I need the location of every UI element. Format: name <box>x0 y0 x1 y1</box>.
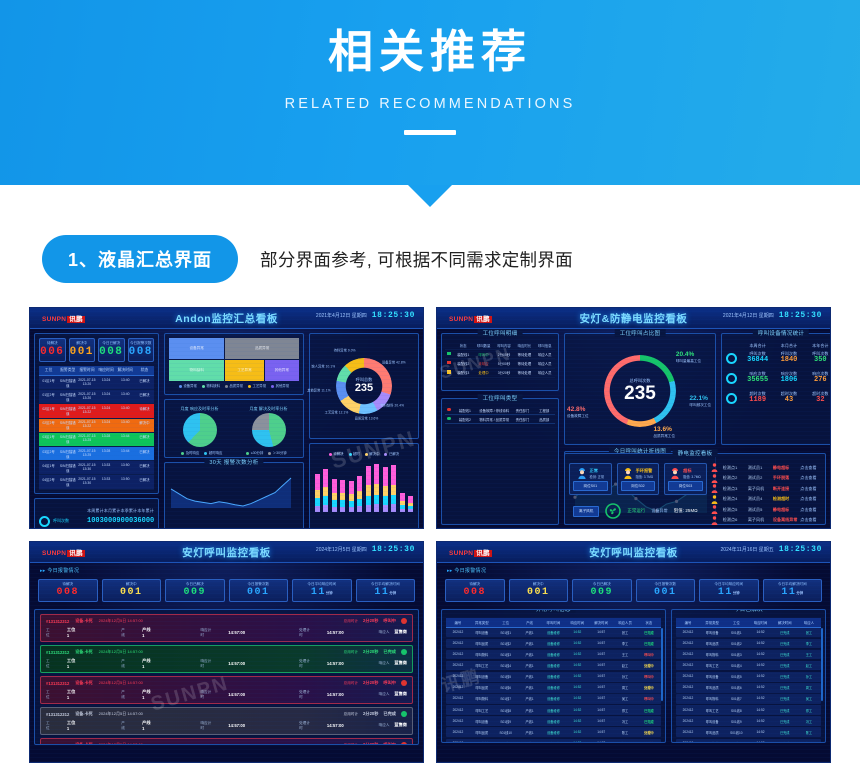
table-cell: 202412 <box>446 683 470 693</box>
alarm-line-value: 产线1 <box>142 627 152 638</box>
table-row[interactable]: 202412呼叫物料S01线3产线1设备维修14:5214:57王工呼叫中 <box>446 650 661 660</box>
table-cell: 设备维修 <box>542 661 566 671</box>
table-cell: 202412 <box>676 739 700 743</box>
table-row[interactable]: 202412呼叫物料S01线714:52已完成吴工 <box>676 694 821 704</box>
table-row[interactable]: 装配线3处理中3分20秒等待处理响应人员 <box>445 369 555 378</box>
hero-banner: 相关推荐 RELATED RECOMMENDATIONS <box>0 0 860 185</box>
table-cell: 01区1号 <box>39 376 58 389</box>
table-cell: 已完成 <box>773 650 797 660</box>
table-row[interactable]: 02区2号S/N扫描错误2021-07-15 13:2213:2413:40解决… <box>39 419 154 433</box>
panel-resolved-today: 今日已解决 编号异常类型工位响应时间解决时间响应人 202412呼叫设备S01线… <box>671 609 826 743</box>
treemap-block[interactable]: 品质异常 <box>225 338 299 359</box>
bar[interactable] <box>332 479 337 512</box>
alarm-line-label: 产线 <box>121 690 128 700</box>
kpi-card[interactable]: 解决中001 <box>509 579 569 602</box>
table-row[interactable]: 202412呼叫设备S01线5产线1设备维修14:5214:57孙工呼叫中 <box>446 672 661 682</box>
page-title: 相关推荐 <box>328 27 532 77</box>
alarm-line-label: 产线 <box>121 628 128 638</box>
esd-alert-row[interactable]: 检测点6离子风机设备离线异常点击查看 <box>711 516 821 525</box>
stats-value: 1806 <box>773 376 804 384</box>
title-divider <box>404 130 456 135</box>
table-cell: 产线1 <box>518 716 542 726</box>
alarm-id: #131312312 <box>46 743 69 746</box>
table-cell: 02区1号 <box>39 404 58 417</box>
alarm-person-label: 响应人 <box>379 692 390 697</box>
table-cell: 14:52 <box>748 716 772 726</box>
table-cell: 14:52 <box>565 639 589 649</box>
table-row[interactable]: 202412呼叫工艺S01线414:52已完成赵工 <box>676 661 821 671</box>
table-cell: 03区1号 <box>39 433 58 446</box>
table-header-cell: 编号 <box>446 618 470 627</box>
panel-title: 今日已解决 <box>729 609 768 613</box>
table-cell: 202412 <box>446 727 470 737</box>
alarm-total-value: 2分20秒 <box>363 649 378 655</box>
kpi-card[interactable]: 今日已解决009 <box>165 579 225 602</box>
esd-action-link[interactable]: 点击查看 <box>800 476 821 480</box>
kpi-card[interactable]: 今日平均解决时间11分钟 <box>763 579 823 602</box>
table-cell: S01线7 <box>724 694 748 704</box>
alarm-total-label: 总用时计 <box>344 743 358 746</box>
table-row[interactable]: 04区1号S/N扫描错误2021-07-15 13:3013:3313:50已解… <box>39 461 154 475</box>
kpi-card[interactable]: 解决中001 <box>102 579 162 602</box>
dashboard-andon-summary[interactable]: SUNPN讯鹏 Andon监控汇总看板 2021年4月12日 星期四 18:25… <box>29 307 424 529</box>
table-row[interactable]: 202412呼叫设备S01线114:52已完成张工 <box>676 628 821 638</box>
table-cell: 202412 <box>446 739 470 743</box>
donut-chart[interactable]: 总呼叫次数 235 20.4% 呼叫量最高工位 22.1% 呼叫频次工位 <box>565 341 715 441</box>
kpi-value: 001 <box>230 588 288 598</box>
dashboard-andon-esd[interactable]: SUNPN讯鹏 安灯&防静电监控看板 2021年4月12日 星期四 18:25:… <box>436 307 831 529</box>
esd-alert-row[interactable]: 检测点5测试员5静电超标点击查看 <box>711 505 821 514</box>
table-cell: 响应人员 <box>535 369 555 377</box>
trend-line-chart[interactable] <box>165 470 297 512</box>
table-cell: 03区2号 <box>39 447 58 460</box>
table-header-cell: 呼叫内容 <box>494 341 514 349</box>
table-row[interactable]: 202412呼叫设备S01线9产线1设备维修14:5214:57冯工已完成 <box>446 716 661 726</box>
table-cell: 14:57 <box>589 716 613 726</box>
kpi-card[interactable]: 今日平均解决时间11分钟 <box>356 579 416 602</box>
header-date: 2024年11月16日 星期五 <box>721 546 774 553</box>
table-header-cell: 响应时长 <box>514 341 534 349</box>
header-date: 2021年4月12日 星期四 <box>723 312 774 319</box>
table-cell: 处理中 <box>473 369 493 377</box>
kpi-card[interactable]: 今日平均响应时间11分钟 <box>699 579 759 602</box>
bar[interactable] <box>349 481 354 512</box>
table-cell: S01线3 <box>724 650 748 660</box>
table-cell: S/N扫描错误 <box>58 390 77 403</box>
kpi-value: 11分钟 <box>700 588 758 598</box>
device-stats-header: 本周合计 本月合计 本年合计 <box>722 341 831 348</box>
ionizer-note: 设备异常 <box>651 509 667 513</box>
bar[interactable] <box>383 467 388 512</box>
table-row[interactable]: 202412呼叫品质S01线2产线1设备维修14:5214:57李工已完成 <box>446 639 661 649</box>
bar-legend: 待解决 超时 解决中 已解决 <box>310 450 418 458</box>
alarm-solve-value: 14:57:00 <box>327 630 344 635</box>
stats-value: 32 <box>805 396 831 404</box>
table-cell: 14:57 <box>589 639 613 649</box>
esd-station-button[interactable]: 岗位S02 <box>621 481 656 491</box>
table-cell: 14:52 <box>748 639 772 649</box>
table-cell: 周工 <box>797 683 821 693</box>
alarm-card[interactable]: #131312312设备-卡死2024年12月5日 14:57:00总用时计2分… <box>40 738 413 745</box>
table-row[interactable]: 02区1号S/N扫描错误2021-07-15 13:2213:2413:40待解… <box>39 404 154 418</box>
status-badge: 呼叫中 <box>637 739 661 743</box>
table-row[interactable]: 202412呼叫品质S01线6产线1设备维修14:5214:57周工处理中 <box>446 683 661 693</box>
bar[interactable] <box>323 469 328 512</box>
esd-cell: 测试员2 <box>748 476 771 480</box>
table-row[interactable]: 03区1号S/N扫描错误2021-07-15 13:2513:2813:44已解… <box>39 433 154 447</box>
table-cell: S/N扫描错误 <box>58 376 77 389</box>
ionizer-button[interactable]: 离子风机 <box>573 506 599 517</box>
table-cell: 呼叫工艺 <box>700 661 724 671</box>
table-header-cell: 异常类型 <box>470 618 494 627</box>
table-row[interactable]: 装配线2物料异常 / 品质异常责任部门品质部 <box>445 415 555 424</box>
worker-icon <box>670 467 680 479</box>
table-row[interactable]: 202412呼叫设备S01线514:52已完成孙工 <box>676 672 821 682</box>
alarm-total-value: 2分20秒 <box>363 742 378 745</box>
page-subtitle: RELATED RECOMMENDATIONS <box>285 96 576 112</box>
alarm-station-value: 工位1 <box>67 720 77 731</box>
table-cell: S01线11 <box>724 739 748 743</box>
bar[interactable] <box>357 476 362 512</box>
bar[interactable] <box>315 474 320 512</box>
stats-value: 43 <box>773 396 804 404</box>
donut-callout: 42.8% 设备故障工位 <box>567 406 589 419</box>
stats-row[interactable]: 超时次数1189超时次数43超时次数32 <box>722 388 831 408</box>
ring-icon <box>39 516 50 527</box>
esd-station-button[interactable]: 岗位S01 <box>573 481 608 491</box>
kpi-value: 001 <box>103 588 161 598</box>
table-cell: 冯工 <box>797 716 821 726</box>
table-row[interactable]: 202412呼叫品质S01线1014:52已完成陈工 <box>676 727 821 737</box>
alarm-station-label: 工位 <box>46 690 53 700</box>
hero-arrow-icon <box>408 185 452 207</box>
table-cell: 202412 <box>676 672 700 682</box>
table-cell: 202412 <box>446 639 470 649</box>
table-cell: S01线2 <box>724 639 748 649</box>
table-cell: 产线1 <box>518 639 542 649</box>
alarm-solve-value: 14:57:00 <box>327 692 344 697</box>
donut-chart[interactable]: 呼叫总数 235 设备异常 42.8%物料缺料 20.4%品质异常 13.6%工… <box>310 334 418 438</box>
kpi-card[interactable]: 今日已解决 008 <box>98 338 125 362</box>
table-cell: S01线4 <box>494 661 518 671</box>
esd-action-link[interactable]: 点击查看 <box>800 466 821 470</box>
table-header-cell: 响应人员 <box>613 618 637 627</box>
stats-value: 35655 <box>742 376 773 384</box>
dashboard-header: SUNPN讯鹏 安灯呼叫监控看板 2024年11月16日 星期五 18:25:3… <box>437 542 830 563</box>
kpi-card[interactable]: 今日报警次数 008 <box>128 338 155 362</box>
esd-action-link[interactable]: 点击查看 <box>800 518 821 522</box>
stats-row[interactable]: 呼叫次数36844呼叫次数1840呼叫次数350 <box>722 348 831 368</box>
kpi-card[interactable]: 今日报警次数001 <box>229 579 289 602</box>
table-row[interactable]: 202412呼叫物料S01线11产线1设备维修14:5214:57褚工呼叫中 <box>446 739 661 743</box>
panel-trend: 30天 报警次数分析 <box>164 462 304 529</box>
table-cell: 待解决 <box>135 404 154 417</box>
pie-title: 月度 响应及时率分析 <box>180 407 218 411</box>
kpi-card[interactable]: 今日平均响应时间11分钟 <box>292 579 352 602</box>
alarm-total-label: 总用时计 <box>344 619 358 624</box>
alarm-card[interactable]: #131312312设备-卡死2024年12月5日 14:57:00总用时计2分… <box>40 707 413 735</box>
esd-worker-card[interactable]: 超标 阻值: 3.7MΩ 岗位S03 <box>664 463 707 495</box>
kpi-card[interactable]: 今日报警次数001 <box>636 579 696 602</box>
kpi-card[interactable]: 待解决008 <box>445 579 505 602</box>
esd-cell: 离子风机 <box>748 518 771 522</box>
kpi-card[interactable]: 解决中 001 <box>69 338 96 362</box>
table-cell: 呼叫物料 <box>700 694 724 704</box>
bar-chart[interactable] <box>310 458 418 517</box>
table-row[interactable]: 03区2号S/N扫描错误2021-07-15 13:2513:2813:44已解… <box>39 447 154 461</box>
table-cell: 已完成 <box>773 705 797 715</box>
donut-callout: 22.1% 呼叫频次工位 <box>689 395 711 408</box>
table-cell: 郑工 <box>797 705 821 715</box>
table-cell: 产线1 <box>518 727 542 737</box>
table-row[interactable]: 01区2号S/N扫描错误2021-07-15 13:2013:2413:40已解… <box>39 390 154 404</box>
kpi-value: 008 <box>39 588 97 598</box>
alarm-line-value: 产线1 <box>142 689 152 700</box>
table-header-cell: 呼叫信息 <box>535 341 555 349</box>
stats-header-row: 本周累计 本月累计 本季累计 本年累计 <box>35 506 158 513</box>
table-cell: 呼叫工艺 <box>470 705 494 715</box>
person-warn-icon <box>711 495 721 504</box>
donut-callout: 20.4% 呼叫量最高工位 <box>676 351 701 364</box>
table-row[interactable]: 202412呼叫物料S01线314:52已完成王工 <box>676 650 821 660</box>
treemap-block[interactable]: 其他异常 <box>265 360 299 381</box>
table-header-cell: 产线 <box>518 618 542 627</box>
table-cell: 已解决 <box>135 461 154 474</box>
table-cell: 呼叫设备 <box>700 672 724 682</box>
section-pill: 1、液晶汇总界面 <box>42 235 238 283</box>
table-row[interactable]: 202412呼叫物料S01线7产线1设备维修14:5214:57吴工呼叫中 <box>446 694 661 704</box>
alarm-status-dot <box>401 711 407 717</box>
table-cell: 响应人员 <box>535 359 555 367</box>
table-cell: 14:52 <box>748 683 772 693</box>
table-cell: S/N扫描错误 <box>58 419 77 432</box>
status-badge: 已完成 <box>637 628 661 638</box>
esd-action-link[interactable]: 点击查看 <box>800 487 821 491</box>
table-row[interactable]: 202412呼叫工艺S01线814:52已完成郑工 <box>676 705 821 715</box>
table-cell: 产线1 <box>518 705 542 715</box>
kpi-value: 001 <box>637 588 695 598</box>
table-row[interactable]: 202412呼叫设备S01线1产线1设备维修14:5214:57张工已完成 <box>446 628 661 638</box>
dashboard-andon-call-tables[interactable]: SUNPN讯鹏 安灯呼叫监控看板 2024年11月16日 星期五 18:25:3… <box>436 541 831 763</box>
dashboard-andon-call-list[interactable]: SUNPN讯鹏 安灯呼叫监控看板 2024年12月5日 星期四 18:25:30… <box>29 541 424 763</box>
call-detail-table: 状态呼叫数量呼叫内容响应时长呼叫信息装配线1呼叫中2分00秒等待处理响应人员装配… <box>445 341 555 378</box>
esd-action-link[interactable]: 点击查看 <box>800 508 821 512</box>
bar[interactable] <box>408 496 413 512</box>
table-cell: S01线2 <box>494 639 518 649</box>
bar[interactable] <box>374 464 379 512</box>
alarm-solve-value: 14:57:00 <box>327 661 344 666</box>
alarm-status-dot <box>401 618 407 624</box>
table-cell: 202412 <box>446 694 470 704</box>
table-row[interactable]: 04区2号S/N扫描错误2021-07-15 13:3013:3313:50已解… <box>39 475 154 489</box>
esd-alert-row[interactable]: 检测点2测试员2手环脱落点击查看 <box>711 474 821 483</box>
clock-icon <box>726 393 737 404</box>
table-cell: 14:52 <box>565 694 589 704</box>
donut-callout: 13.6% 品质异常工位 <box>653 426 675 439</box>
alarm-status-dot <box>401 649 407 655</box>
alarm-type: 设备-卡死 <box>75 711 92 717</box>
table-row[interactable]: 装配线1呼叫中2分00秒等待处理响应人员 <box>445 350 555 359</box>
table-cell: 2分00秒 <box>494 350 514 358</box>
table-cell: 202412 <box>446 650 470 660</box>
table-cell: 呼叫品质 <box>470 639 494 649</box>
table-cell: 2021-07-15 13:20 <box>77 376 96 389</box>
bar[interactable] <box>340 480 345 512</box>
status-badge: 呼叫中 <box>637 694 661 704</box>
table-row[interactable]: 装配线2未响应5分00秒等待处理响应人员 <box>445 359 555 368</box>
status-badge: 呼叫中 <box>637 672 661 682</box>
table-cell: 设备维修 <box>542 683 566 693</box>
table-cell: 202412 <box>676 694 700 704</box>
table-row[interactable]: 202412呼叫物料S01线1114:52已完成褚工 <box>676 739 821 743</box>
table-cell: 13:24 <box>96 390 115 403</box>
table-cell: S/N扫描错误 <box>58 404 77 417</box>
alarm-person-value: 蓝售商 <box>394 660 407 666</box>
esd-action-link[interactable]: 点击查看 <box>800 497 821 501</box>
esd-status: 断开连接 <box>773 487 798 491</box>
kpi-group: 待解决008解决中001今日已解决009今日报警次数001今日平均响应时间11分… <box>34 576 419 605</box>
panel-kpis-and-table: 待解决 006 解决中 001 今日已解决 008 <box>34 333 159 494</box>
table-cell: 14:52 <box>565 739 589 743</box>
table-row[interactable]: 202412呼叫品质S01线214:52已完成李工 <box>676 639 821 649</box>
scrollbar[interactable] <box>821 628 823 701</box>
table-header-cell: 工位 <box>724 618 748 627</box>
stats-value: 9000 <box>116 517 133 525</box>
bar[interactable] <box>400 493 405 512</box>
alarm-resp-label: 响应计时 <box>200 659 214 669</box>
kpi-card[interactable]: 待解决008 <box>38 579 98 602</box>
table-cell: 2021-07-15 13:22 <box>77 404 96 417</box>
table-cell: 响应人员 <box>535 350 555 358</box>
alarm-resp-label: 响应计时 <box>200 721 214 731</box>
esd-status: 设备离线异常 <box>773 518 798 522</box>
esd-alert-row[interactable]: 检测点4测试员4检测超时点击查看 <box>711 495 821 504</box>
alarm-type: 设备-卡死 <box>75 680 92 686</box>
header-time: 18:25:30 <box>779 311 822 320</box>
alarm-total-value: 2分20秒 <box>363 711 378 717</box>
status-badge: 处理中 <box>637 727 661 737</box>
pie-chart[interactable] <box>252 413 286 447</box>
person-ok-icon <box>711 505 721 514</box>
table-cell: 装配线2 <box>453 359 473 367</box>
alarm-person-label: 响应人 <box>379 723 390 728</box>
stats-value: 36000 <box>133 517 154 525</box>
bar[interactable] <box>391 465 396 512</box>
alarm-card[interactable]: #131312312设备-卡死2024年12月5日 14:57:00总用时计2分… <box>40 645 413 673</box>
esd-status: 静电超标 <box>773 466 798 470</box>
donut-slice-label: 缺人异常 10.1% <box>312 365 336 368</box>
table-row[interactable]: 202412呼叫品质S01线614:52已完成周工 <box>676 683 821 693</box>
table-cell: 李工 <box>797 639 821 649</box>
esd-station-button[interactable]: 岗位S03 <box>668 481 703 491</box>
stats-value: 3000 <box>100 517 117 525</box>
alarm-card[interactable]: #131312312设备-卡死2024年12月5日 14:57:00总用时计2分… <box>40 676 413 704</box>
table-cell: 14:57 <box>589 628 613 638</box>
pie-chart[interactable] <box>183 413 217 447</box>
treemap-legend: 设备异常 物料缺料 品质异常 工艺异常 其他异常 <box>169 381 299 390</box>
table-cell: 01区2号 <box>39 390 58 403</box>
table-cell: 孙工 <box>613 672 637 682</box>
alarm-datetime: 2024年12月5日 14:57:00 <box>99 649 143 655</box>
status-flag <box>445 406 453 414</box>
panel-treemap: 设备异常 品质异常 物料缺料 工艺异常 其他异常 设备异常 物料缺料 品质异常 … <box>164 333 304 395</box>
bar[interactable] <box>366 466 371 512</box>
table-cell: 等待处理 <box>514 350 534 358</box>
worker-icon <box>577 467 587 479</box>
scrollbar[interactable] <box>661 628 663 701</box>
table-cell: 14:52 <box>565 661 589 671</box>
kpi-unit: 分钟 <box>733 592 740 596</box>
stats-row[interactable]: 响应次数35655响应次数1806响应次数276 <box>722 368 831 388</box>
table-row[interactable]: 202412呼叫工艺S01线4产线1设备维修14:5214:57赵工处理中 <box>446 661 661 671</box>
panel-call-detail: 工位呼叫明细 状态呼叫数量呼叫内容响应时长呼叫信息装配线1呼叫中2分00秒等待处… <box>441 333 559 391</box>
kpi-value: 001 <box>510 588 568 598</box>
table-cell: 14:57 <box>589 727 613 737</box>
table-cell: 呼叫物料 <box>700 650 724 660</box>
table-cell: 褚工 <box>613 739 637 743</box>
table-cell: 陈工 <box>797 727 821 737</box>
treemap-block[interactable]: 物料缺料 <box>169 360 224 381</box>
table-cell: 周工 <box>613 683 637 693</box>
table-cell: 已解决 <box>135 376 154 389</box>
table-cell: 13:44 <box>116 433 135 446</box>
table-row[interactable]: 202412呼叫工艺S01线8产线1设备维修14:5214:57郑工已完成 <box>446 705 661 715</box>
panel-call-ratio: 工位呼叫占比图 总呼叫次数 235 20.4% 呼叫量最高工位 <box>564 333 716 445</box>
table-cell: 04区1号 <box>39 461 58 474</box>
panel-pies: 月度 响应及时率分析 月度 解决及时率分析 及时响应 超时响应 <box>164 399 304 458</box>
table-cell: 赵工 <box>613 661 637 671</box>
table-row[interactable]: 01区1号S/N扫描错误2021-07-15 13:2013:2413:40已解… <box>39 376 154 390</box>
table-cell: 14:52 <box>748 628 772 638</box>
table-cell: 王工 <box>797 650 821 660</box>
table-row[interactable]: 202412呼叫品质S01线10产线1设备维修14:5214:57陈工处理中 <box>446 727 661 737</box>
table-header-cell: 编号 <box>676 618 700 627</box>
esd-alert-row[interactable]: 检测点1测试员1静电超标点击查看 <box>711 463 821 472</box>
table-cell: 设备故障 / 停线待料 <box>477 406 512 414</box>
table-cell: 产线1 <box>518 739 542 743</box>
table-cell: 14:52 <box>748 727 772 737</box>
table-cell: 14:52 <box>565 705 589 715</box>
table-cell: 202412 <box>676 683 700 693</box>
alarm-person-label: 响应人 <box>379 661 390 666</box>
kpi-card[interactable]: 今日已解决009 <box>572 579 632 602</box>
kpi-card[interactable]: 待解决 006 <box>39 338 66 362</box>
table-cell: 装配线2 <box>453 415 477 423</box>
kpi-value: 11分钟 <box>764 588 822 598</box>
table-cell: 14:52 <box>565 716 589 726</box>
table-row[interactable]: 装配线1设备故障 / 停线待料责任部门工程部 <box>445 406 555 415</box>
table-cell: 等待处理 <box>514 369 534 377</box>
table-cell: 14:57 <box>589 694 613 704</box>
treemap-block[interactable]: 工艺异常 <box>225 360 263 381</box>
alarm-resp-label: 响应计时 <box>200 690 214 700</box>
alarm-status: 呼叫中 <box>383 680 396 686</box>
table-cell: 202412 <box>676 628 700 638</box>
alarm-card[interactable]: #131312312设备-卡死2024年12月5日 14:57:00总用时计2分… <box>40 614 413 642</box>
table-cell: 呼叫物料 <box>470 739 494 743</box>
treemap-block[interactable]: 设备异常 <box>169 338 224 359</box>
stats-row[interactable]: 呼叫次数1003000900036000 <box>35 513 158 530</box>
esd-worker-card[interactable]: 正常 检测: 正常 岗位S01 <box>569 463 612 495</box>
donut-slice-label: 待料异常 9.0% <box>334 350 356 353</box>
reply-icon <box>726 373 737 384</box>
table-row[interactable]: 202412呼叫设备S01线914:52已完成冯工 <box>676 716 821 726</box>
table-cell: 产线1 <box>518 628 542 638</box>
esd-worker-card[interactable]: 手环报警 阻值: 3.7MΩ 岗位S02 <box>617 463 660 495</box>
esd-alert-row[interactable]: 检测点3离子风机断开连接点击查看 <box>711 484 821 493</box>
esd-status: 静电超标 <box>773 508 798 512</box>
panel-title: 呼叫设备情况统计 <box>753 329 809 337</box>
